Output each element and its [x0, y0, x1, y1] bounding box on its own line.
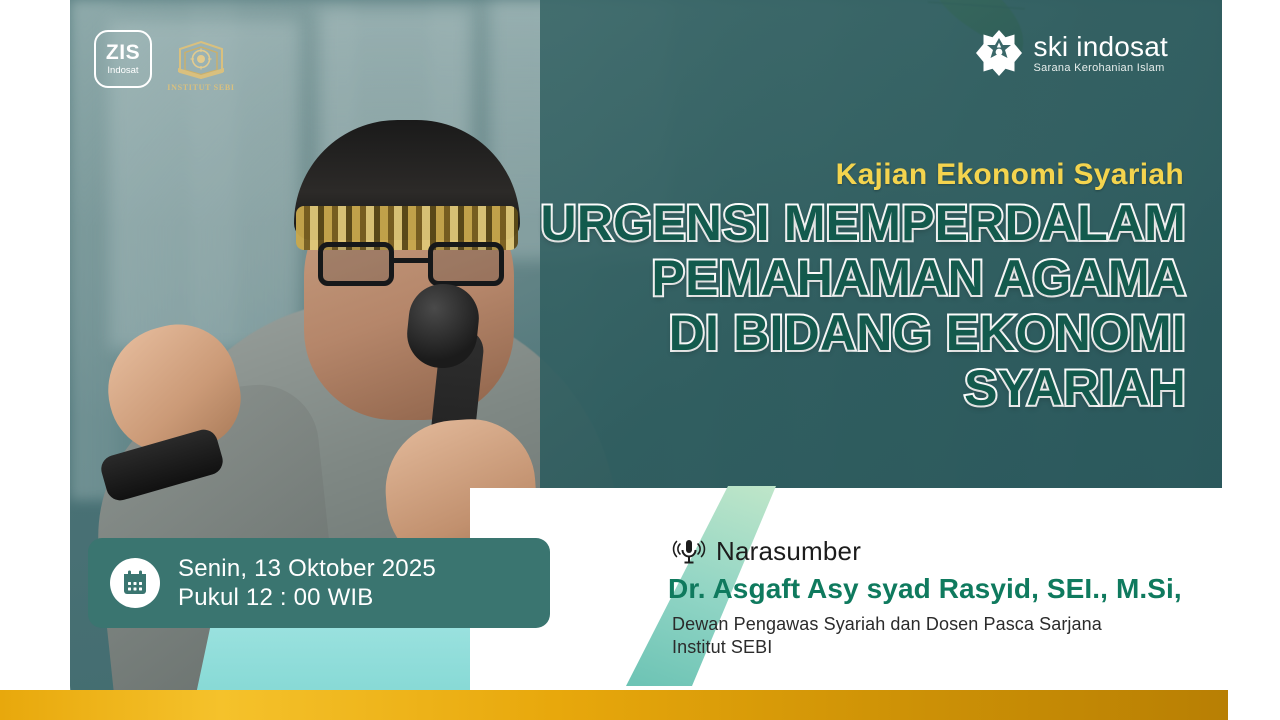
institut-sebi-logo[interactable]: INSTITUT SEBI — [166, 30, 236, 92]
speaker-role-line-1: Dewan Pengawas Syariah dan Dosen Pasca S… — [672, 613, 1252, 636]
institut-sebi-label: INSTITUT SEBI — [167, 83, 234, 92]
webinar-poster: ZIS Indosat INSTI — [0, 0, 1280, 720]
window-pane-decor — [320, 10, 470, 310]
speaker-role-line-2: Institut SEBI — [672, 636, 1252, 659]
zis-logo-main-text: ZIS — [106, 42, 140, 63]
ski-indosat-name: ski indosat — [1034, 31, 1169, 62]
schedule-time: Pukul 12 : 00 WIB — [178, 583, 436, 612]
microphone-icon — [672, 537, 706, 567]
headline-line-4: SYARIAH — [486, 361, 1186, 416]
headline-line-3: DI BIDANG EKONOMI — [486, 306, 1186, 361]
ski-indosat-tagline: Sarana Kerohanian Islam — [1034, 63, 1169, 75]
calendar-icon — [110, 558, 160, 608]
event-kicker: Kajian Ekonomi Syariah — [836, 158, 1184, 192]
speaker-section-label: Narasumber — [716, 536, 861, 567]
bottom-gold-bar — [0, 690, 1228, 720]
speaker-info: Narasumber Dr. Asgaft Asy syad Rasyid, S… — [672, 536, 1252, 658]
ski-indosat-star-icon — [976, 30, 1022, 76]
headline-line-1: URGENSI MEMPERDALAM — [486, 196, 1186, 251]
institut-sebi-emblem-icon — [174, 38, 228, 80]
schedule-chip: Senin, 13 Oktober 2025 Pukul 12 : 00 WIB — [88, 538, 550, 628]
partner-logos: ZIS Indosat INSTI — [94, 30, 236, 92]
headline-line-2: PEMAHAMAN AGAMA — [486, 251, 1186, 306]
speaker-name: Dr. Asgaft Asy syad Rasyid, SEI., M.Si, — [668, 573, 1252, 605]
zis-indosat-logo[interactable]: ZIS Indosat — [94, 30, 152, 88]
zis-logo-sub-text: Indosat — [107, 66, 138, 76]
page-title: URGENSI MEMPERDALAM PEMAHAMAN AGAMA DI B… — [486, 196, 1186, 416]
ski-indosat-logo[interactable]: ski indosat Sarana Kerohanian Islam — [976, 30, 1169, 76]
schedule-date: Senin, 13 Oktober 2025 — [178, 554, 436, 583]
